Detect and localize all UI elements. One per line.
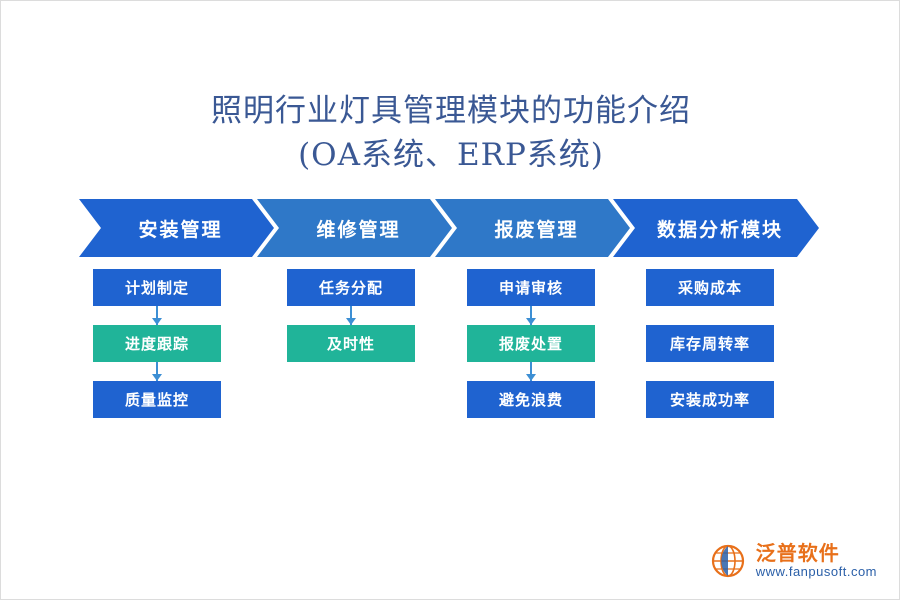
brand-logo: 泛普软件 www.fanpusoft.com [708,541,877,581]
column-data-analysis: 采购成本 库存周转率 安装成功率 [646,269,774,418]
node-quality-monitoring[interactable]: 质量监控 [93,381,221,418]
node-task-assignment[interactable]: 任务分配 [287,269,415,306]
node-install-success-rate[interactable]: 安装成功率 [646,381,774,418]
node-plan-making-label: 计划制定 [125,277,189,298]
arrow-down-icon [530,306,532,325]
arrow-down-icon [530,362,532,381]
page-title-line1: 照明行业灯具管理模块的功能介绍 [1,89,900,133]
arrow-down-icon [156,362,158,381]
chevron-header-1[interactable]: 安装管理 [79,199,274,257]
chevron-header-3[interactable]: 报废管理 [435,199,630,257]
node-application-review[interactable]: 申请审核 [467,269,595,306]
column-scrap-management: 申请审核 报废处置 避免浪费 [467,269,595,418]
node-plan-making[interactable]: 计划制定 [93,269,221,306]
node-inventory-turnover-label: 库存周转率 [670,333,750,354]
node-timeliness-label: 及时性 [327,333,375,354]
node-timeliness[interactable]: 及时性 [287,325,415,362]
globe-icon [708,541,748,581]
chevron-band: 安装管理 维修管理 报废管理 数据分析模块 [79,199,819,257]
chevron-header-4-label: 数据分析模块 [657,215,783,242]
node-inventory-turnover[interactable]: 库存周转率 [646,325,774,362]
brand-text: 泛普软件 www.fanpusoft.com [756,543,877,579]
node-application-review-label: 申请审核 [499,277,563,298]
node-avoid-waste[interactable]: 避免浪费 [467,381,595,418]
node-progress-tracking-label: 进度跟踪 [125,333,189,354]
node-scrap-disposal-label: 报废处置 [499,333,563,354]
page-title: 照明行业灯具管理模块的功能介绍 (OA系统、ERP系统) [1,89,900,177]
chevron-header-4[interactable]: 数据分析模块 [613,199,819,257]
node-install-success-rate-label: 安装成功率 [670,389,750,410]
node-task-assignment-label: 任务分配 [319,277,383,298]
chevron-header-3-label: 报废管理 [494,215,578,242]
node-avoid-waste-label: 避免浪费 [499,389,563,410]
chevron-header-1-label: 安装管理 [138,215,222,242]
column-repair-management: 任务分配 及时性 [287,269,415,362]
brand-url: www.fanpusoft.com [756,565,877,579]
column-install-management: 计划制定 进度跟踪 质量监控 [93,269,221,418]
node-progress-tracking[interactable]: 进度跟踪 [93,325,221,362]
chevron-header-2[interactable]: 维修管理 [257,199,452,257]
node-procurement-cost-label: 采购成本 [678,277,742,298]
node-scrap-disposal[interactable]: 报废处置 [467,325,595,362]
arrow-down-icon [350,306,352,325]
page-title-line2: (OA系统、ERP系统) [1,133,900,177]
brand-name: 泛普软件 [756,543,877,565]
arrow-down-icon [156,306,158,325]
node-procurement-cost[interactable]: 采购成本 [646,269,774,306]
slide-canvas: 照明行业灯具管理模块的功能介绍 (OA系统、ERP系统) 安装管理 维修管理 报… [0,0,900,600]
chevron-header-2-label: 维修管理 [316,215,400,242]
node-quality-monitoring-label: 质量监控 [125,389,189,410]
